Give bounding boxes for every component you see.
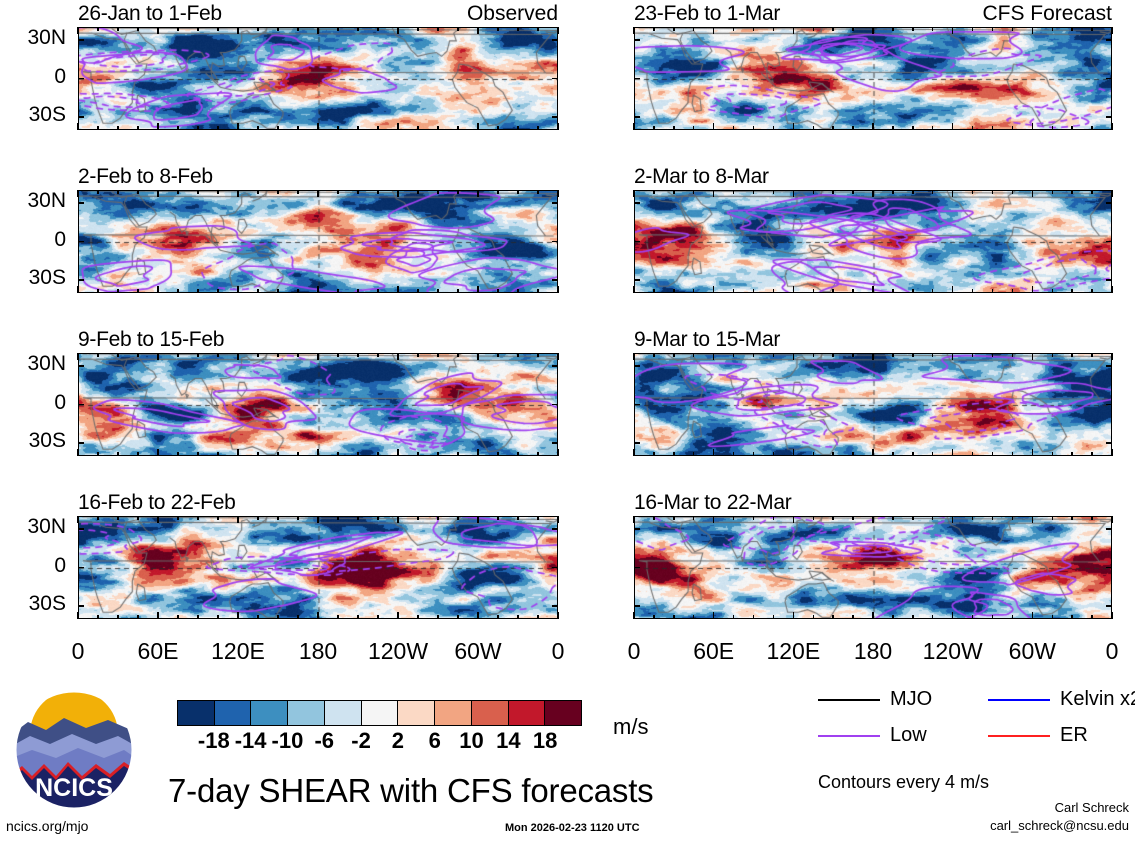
y-axis-label: 30N	[0, 189, 66, 213]
panel-title: 23-Feb to 1-Mar	[634, 2, 780, 26]
colorbar-tick-label: 6	[429, 728, 441, 754]
ncics-logo-text: NCICS	[35, 774, 113, 802]
x-axis-label: 120W	[923, 638, 983, 665]
colorbar-band	[215, 701, 252, 725]
colorbar-tick-label: -14	[235, 728, 267, 754]
author-email: carl_schreck@ncsu.edu	[918, 818, 1129, 833]
contour-interval-note: Contours every 4 m/s	[818, 772, 989, 793]
map-panel[interactable]	[634, 353, 1112, 456]
colorbar-band	[435, 701, 472, 725]
x-axis-label: 60E	[138, 638, 179, 665]
colorbar-tick-label: -18	[198, 728, 230, 754]
legend-label: Kelvin x2	[1060, 688, 1135, 710]
colorbar-band	[325, 701, 362, 725]
map-panel[interactable]	[634, 27, 1112, 130]
y-axis-label: 30S	[0, 103, 66, 127]
map-panel[interactable]	[634, 516, 1112, 619]
x-axis-label: 180	[299, 638, 337, 665]
map-panel[interactable]	[78, 516, 558, 619]
legend-line-swatch	[988, 735, 1050, 737]
map-panel[interactable]	[78, 190, 558, 293]
ncics-logo: NCICS	[12, 688, 136, 812]
legend-item-mjo: MJO	[818, 688, 932, 711]
colorbar-strip	[177, 700, 582, 726]
x-axis-forecast: 060E120E180120W60W0	[600, 638, 1135, 670]
x-axis-label: 60E	[693, 638, 734, 665]
x-axis-label: 0	[628, 638, 641, 665]
column-header-observed: Observed	[388, 2, 558, 26]
shear-anomaly-field	[635, 28, 1112, 130]
legend-label: Low	[890, 724, 927, 746]
panel-title: 26-Jan to 1-Feb	[78, 2, 222, 26]
y-axis-label: 30N	[0, 515, 66, 539]
colorbar-tick-label: 10	[459, 728, 483, 754]
colorbar-band	[362, 701, 399, 725]
x-axis-label: 60W	[454, 638, 501, 665]
panel-title: 16-Mar to 22-Mar	[634, 491, 791, 515]
colorbar-band	[251, 701, 288, 725]
shear-anomaly-field	[635, 354, 1112, 456]
colorbar-tick-label: 14	[496, 728, 520, 754]
y-axis-label: 30S	[0, 266, 66, 290]
panel-title: 9-Mar to 15-Mar	[634, 328, 780, 352]
legend-item-low: Low	[818, 724, 927, 747]
legend-line-swatch	[988, 699, 1050, 701]
shear-anomaly-field	[635, 191, 1112, 293]
shear-anomaly-field	[79, 28, 558, 130]
y-axis-label: 30N	[0, 352, 66, 376]
colorbar-band	[178, 701, 215, 725]
panel-title: 2-Mar to 8-Mar	[634, 165, 769, 189]
colorbar-tick-label: -2	[351, 728, 371, 754]
x-axis-label: 120E	[766, 638, 820, 665]
y-axis-label: 30S	[0, 429, 66, 453]
x-axis-label: 60W	[1009, 638, 1056, 665]
colorbar-tick-label: -10	[272, 728, 304, 754]
map-panel[interactable]	[78, 353, 558, 456]
timestamp-label: Mon 2026-02-23 1120 UTC	[505, 822, 640, 834]
x-axis-observed: 060E120E180120W60W0	[0, 638, 600, 670]
y-axis-label: 30S	[0, 592, 66, 616]
x-axis-label: 0	[72, 638, 85, 665]
shear-anomaly-field	[635, 517, 1112, 619]
y-axis-label: 30N	[0, 26, 66, 50]
colorbar-tick-label: 18	[533, 728, 557, 754]
panel-title: 2-Feb to 8-Feb	[78, 165, 213, 189]
colorbar-unit-label: m/s	[613, 714, 648, 740]
colorbar-tick-label: 2	[392, 728, 404, 754]
ncics-logo-graphic: NCICS	[12, 688, 136, 812]
colorbar: -18-14-10-6-226101418	[177, 700, 597, 760]
colorbar-ticks: -18-14-10-6-226101418	[177, 728, 582, 756]
y-axis-label: 0	[0, 391, 66, 415]
panel-title: 9-Feb to 15-Feb	[78, 328, 224, 352]
page-title: 7-day SHEAR with CFS forecasts	[168, 772, 654, 810]
colorbar-band	[398, 701, 435, 725]
legend-line-swatch	[818, 699, 880, 701]
author-name: Carl Schreck	[918, 800, 1129, 815]
y-axis-label: 0	[0, 228, 66, 252]
x-axis-label: 0	[1106, 638, 1119, 665]
map-panel[interactable]	[78, 27, 558, 130]
x-axis-label: 180	[854, 638, 892, 665]
shear-anomaly-field	[79, 517, 558, 619]
shear-anomaly-field	[79, 191, 558, 293]
legend-label: ER	[1060, 724, 1088, 746]
x-axis-label: 120E	[211, 638, 265, 665]
colorbar-band	[545, 701, 581, 725]
y-axis-label: 0	[0, 554, 66, 578]
legend-label: MJO	[890, 688, 932, 710]
panel-title: 16-Feb to 22-Feb	[78, 491, 235, 515]
shear-anomaly-field	[79, 354, 558, 456]
colorbar-band	[288, 701, 325, 725]
column-header-forecast: CFS Forecast	[942, 2, 1112, 26]
colorbar-tick-label: -6	[314, 728, 334, 754]
site-url-label[interactable]: ncics.org/mjo	[6, 818, 88, 834]
x-axis-label: 120W	[368, 638, 428, 665]
contour-legend: MJOKelvin x2LowER	[818, 688, 1128, 758]
y-axis-label: 0	[0, 65, 66, 89]
colorbar-band	[509, 701, 546, 725]
map-panel[interactable]	[634, 190, 1112, 293]
legend-item-kelvin-x2: Kelvin x2	[988, 688, 1135, 711]
legend-item-er: ER	[988, 724, 1088, 747]
colorbar-band	[472, 701, 509, 725]
legend-line-swatch	[818, 735, 880, 737]
x-axis-label: 0	[552, 638, 565, 665]
